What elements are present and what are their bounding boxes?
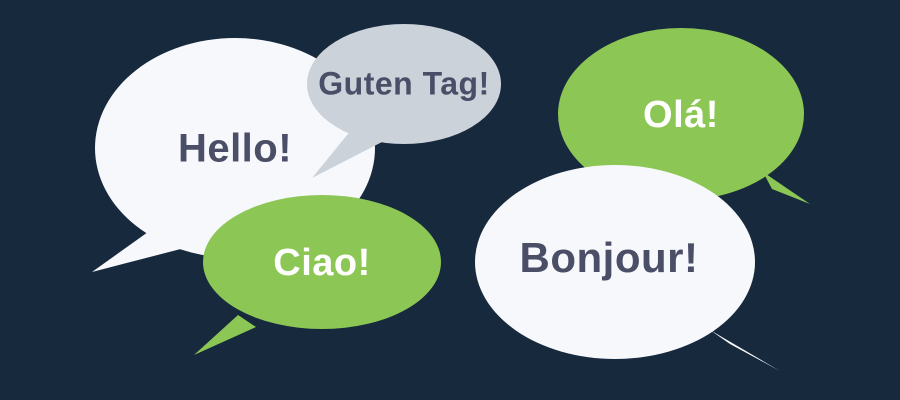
speech-bubble-label-ola: Olá! [643,94,719,136]
speech-bubble-label-guten-tag: Guten Tag! [318,65,490,101]
speech-bubble-label-hello: Hello! [178,127,292,171]
illustration-canvas: Hello! Guten Tag! Olá! Ciao! Bonjour! [0,0,900,400]
speech-bubble-label-ciao: Ciao! [273,242,371,284]
speech-bubbles-illustration: Hello! Guten Tag! Olá! Ciao! Bonjour! [0,0,900,400]
speech-bubble-label-bonjour: Bonjour! [520,234,699,281]
